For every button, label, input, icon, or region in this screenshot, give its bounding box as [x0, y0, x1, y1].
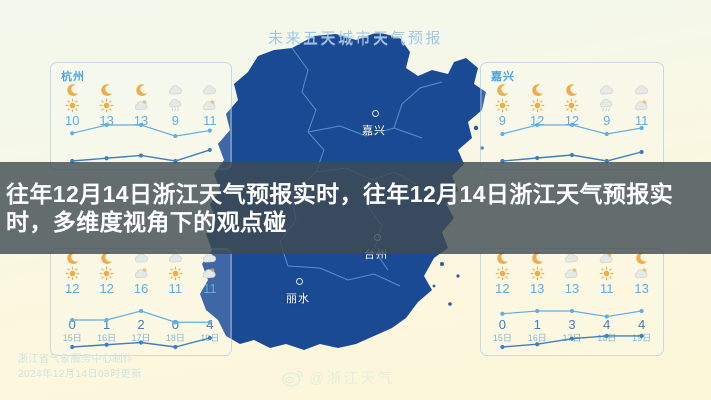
low-temperature-value: 0: [499, 318, 506, 332]
weibo-logo-icon: [282, 369, 304, 387]
high-temperature-value: 9: [499, 114, 506, 128]
sun-icon: [529, 98, 546, 113]
forecast-day-column: 12: [520, 83, 555, 167]
forecast-day-column: 11418日: [589, 251, 624, 353]
map-pin-icon-jiaxing: [372, 110, 379, 117]
page-title: 未来五天城市天气预报: [0, 27, 711, 48]
moon-icon: [133, 83, 150, 98]
weibo-watermark: @浙江天气: [282, 367, 394, 388]
weather-forecast-graphic: 嘉兴 台州 丽水 未来五天城市天气预报 杭州 101313911 12015日1…: [0, 0, 711, 400]
high-temperature-value: 12: [565, 114, 579, 128]
sun-icon: [494, 266, 511, 281]
forecast-date-label: 15日: [493, 331, 512, 344]
forecast-date-label: 16日: [528, 331, 547, 344]
cloud-sun-icon: [563, 266, 580, 281]
sun-icon: [98, 98, 115, 113]
low-temperature-value: 3: [568, 318, 575, 332]
forecast-day-columns: 12015日12116日16217日11018日11419日: [55, 251, 227, 353]
producer-watermark: 浙江省气象服务中心制作 2024年12月14日08时更新: [18, 353, 142, 382]
forecast-card-city: 杭州: [61, 68, 85, 84]
forecast-day-column: 16217日: [124, 251, 158, 353]
forecast-day-column: 9: [158, 83, 192, 167]
high-temperature-value: 9: [603, 114, 610, 128]
high-temperature-value: 11: [203, 282, 217, 296]
forecast-date-label: 19日: [632, 331, 651, 344]
producer-line: 浙江省气象服务中心制作: [18, 353, 142, 368]
high-temperature-value: 12: [99, 282, 113, 296]
forecast-card-top-right[interactable]: 嘉兴 91212911: [480, 62, 664, 170]
moon-icon: [529, 83, 546, 98]
high-temperature-value: 11: [635, 114, 649, 128]
forecast-day-columns: 12015日13116日13317日11418日13419日: [485, 251, 659, 353]
high-temperature-value: 12: [530, 114, 544, 128]
high-temperature-value: 12: [495, 282, 509, 296]
cloud-rain-icon: [167, 98, 184, 113]
map-label-jiaxing: 嘉兴: [362, 122, 386, 138]
high-temperature-value: 9: [172, 114, 179, 128]
forecast-day-column: 12015日: [485, 251, 520, 353]
low-temperature-value: 2: [137, 318, 144, 332]
forecast-day-column: 9: [485, 83, 520, 167]
cloud-icon: [167, 83, 184, 98]
forecast-day-column: 11: [624, 83, 659, 167]
high-temperature-value: 12: [65, 282, 79, 296]
cloud-sun-icon: [201, 98, 218, 113]
cloud-rain-icon: [598, 98, 615, 113]
sun-icon: [98, 266, 115, 281]
sun-icon: [563, 98, 580, 113]
sun-icon: [598, 266, 615, 281]
forecast-date-label: 18日: [597, 331, 616, 344]
cloud-sun-icon: [133, 98, 150, 113]
forecast-day-column: 13: [124, 83, 158, 167]
high-temperature-value: 13: [565, 282, 579, 296]
forecast-day-column: 9: [589, 83, 624, 167]
updated-line: 2024年12月14日08时更新: [18, 368, 142, 383]
map-label-lishui: 丽水: [286, 290, 310, 306]
forecast-date-label: 17日: [562, 331, 581, 344]
cloud-sun-icon: [133, 266, 150, 281]
low-temperature-value: 0: [69, 318, 76, 332]
forecast-day-column: 13116日: [520, 251, 555, 353]
low-temperature-value: 0: [172, 318, 179, 332]
forecast-date-label: 15日: [63, 331, 82, 344]
sun-icon: [167, 266, 184, 281]
low-temperature-value: 4: [638, 318, 645, 332]
cloud-icon: [201, 83, 218, 98]
moon-icon: [563, 83, 580, 98]
headline-text: 往年12月14日浙江天气预报实时，往年12月14日浙江天气预报实时，多维度视角下…: [0, 180, 711, 236]
high-temperature-value: 16: [134, 282, 148, 296]
forecast-day-column: 13317日: [555, 251, 590, 353]
high-temperature-value: 13: [634, 282, 648, 296]
forecast-day-column: 11: [193, 83, 227, 167]
cloud-icon: [598, 83, 615, 98]
moon-icon: [64, 83, 81, 98]
forecast-day-columns: 101313911: [55, 83, 227, 167]
forecast-date-label: 19日: [200, 331, 219, 344]
forecast-day-columns: 91212911: [485, 83, 659, 167]
high-temperature-value: 11: [600, 282, 614, 296]
cloud-icon: [633, 83, 650, 98]
forecast-day-column: 11018日: [158, 251, 192, 353]
cloud-sun-icon: [633, 98, 650, 113]
sun-icon: [64, 98, 81, 113]
forecast-day-column: 11419日: [193, 251, 227, 353]
high-temperature-value: 11: [203, 114, 217, 128]
high-temperature-value: 13: [99, 114, 113, 128]
forecast-day-column: 12015日: [55, 251, 89, 353]
headline-overlay-band: 往年12月14日浙江天气预报实时，往年12月14日浙江天气预报实时，多维度视角下…: [0, 162, 711, 254]
moon-icon: [98, 83, 115, 98]
forecast-day-column: 10: [55, 83, 89, 167]
forecast-date-label: 18日: [166, 331, 185, 344]
high-temperature-value: 11: [169, 282, 183, 296]
sun-icon: [529, 266, 546, 281]
forecast-card-bottom-left[interactable]: 12015日12116日16217日11018日11419日: [50, 248, 232, 356]
forecast-date-label: 16日: [97, 331, 116, 344]
sun-icon: [64, 266, 81, 281]
forecast-day-column: 13: [89, 83, 123, 167]
forecast-card-top-left[interactable]: 杭州 101313911: [50, 62, 232, 170]
low-temperature-value: 1: [103, 318, 110, 332]
cloud-sun-icon: [633, 266, 650, 281]
forecast-card-city: 嘉兴: [491, 68, 515, 84]
cloud-sun-icon: [201, 266, 218, 281]
forecast-day-column: 13419日: [624, 251, 659, 353]
high-temperature-value: 13: [530, 282, 544, 296]
forecast-date-label: 17日: [132, 331, 151, 344]
forecast-day-column: 12: [555, 83, 590, 167]
forecast-card-bottom-right[interactable]: 12015日13116日13317日11418日13419日: [480, 248, 664, 356]
forecast-day-column: 12116日: [89, 251, 123, 353]
weibo-handle: @浙江天气: [309, 367, 394, 388]
high-temperature-value: 13: [134, 114, 148, 128]
high-temperature-value: 10: [65, 114, 79, 128]
sun-icon: [494, 98, 511, 113]
moon-icon: [494, 83, 511, 98]
map-pin-icon-lishui: [296, 278, 303, 285]
low-temperature-value: 4: [603, 318, 610, 332]
low-temperature-value: 4: [206, 318, 213, 332]
low-temperature-value: 1: [534, 318, 541, 332]
